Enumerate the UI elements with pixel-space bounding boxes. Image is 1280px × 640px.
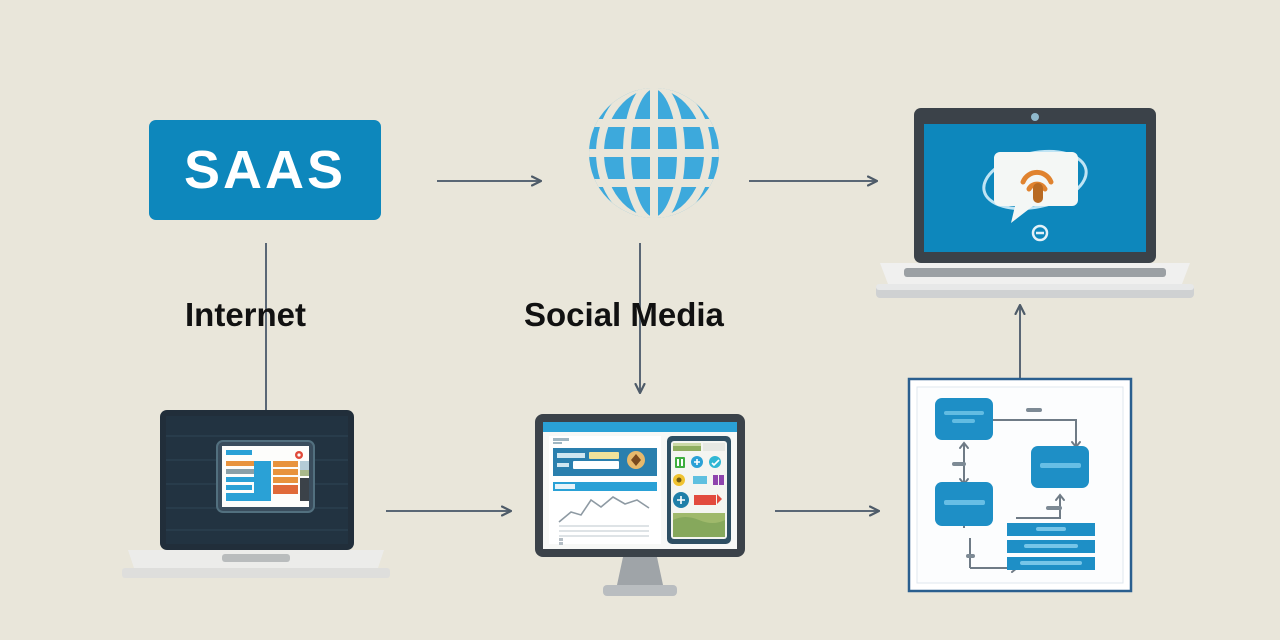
monitor-stand-base [603,585,677,596]
monitor-dashboard[interactable] [527,412,753,600]
flowchart-diagram[interactable] [908,378,1132,592]
monitor-stand-neck [617,557,663,585]
laptop-camera [1031,113,1039,121]
diagram-canvas: SAAS Internet Social Media [0,0,1280,640]
saas-badge[interactable]: SAAS [149,120,381,220]
laptop-foot [122,568,390,578]
wifi-drop [1033,183,1043,203]
laptop-chat[interactable] [876,106,1194,301]
globe-icon[interactable] [578,85,730,221]
laptop-website[interactable] [122,408,390,580]
label-internet: Internet [185,298,306,331]
label-social-media: Social Media [524,298,724,331]
saas-label: SAAS [184,143,346,197]
